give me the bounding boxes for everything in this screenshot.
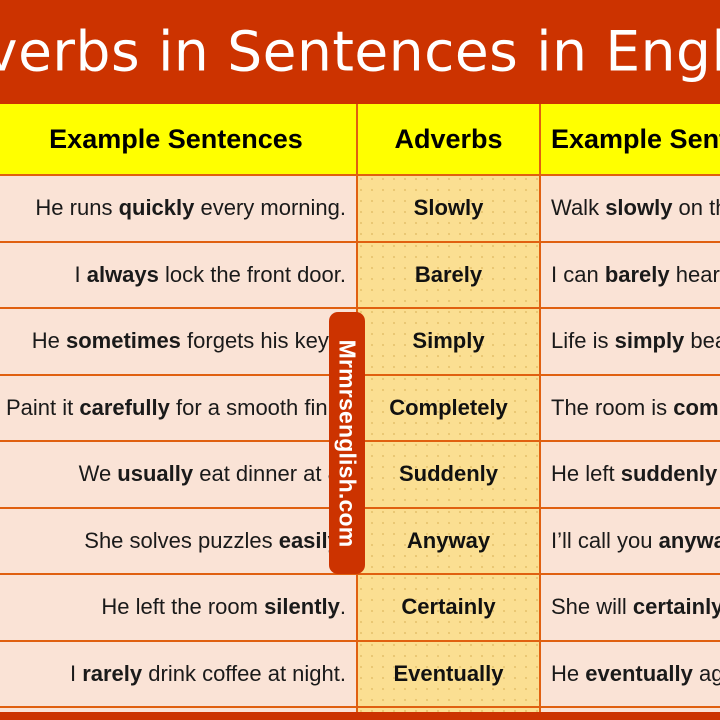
- cell-adverb: Anyway: [357, 508, 540, 575]
- cell-example-sentence-right: I can barely hear you.: [540, 242, 720, 309]
- cell-adverb: Eventually: [357, 641, 540, 708]
- table-row: I rarely drink coffee at night.Eventuall…: [0, 641, 720, 708]
- cell-example-sentence-right: The room is completely empty.: [540, 375, 720, 442]
- cell-example-sentence-right: He eventually agreed.: [540, 641, 720, 708]
- column-header-adverbs: Adverbs: [357, 104, 540, 175]
- cell-example-sentence-left: He sometimes forgets his keys.: [0, 308, 357, 375]
- cell-example-sentence-left: He runs quickly every morning.: [0, 175, 357, 242]
- cell-example-sentence-right: Life is simply beautiful.: [540, 308, 720, 375]
- cell-adverb: Certainly: [357, 574, 540, 641]
- cell-example-sentence-right: She will certainly win.: [540, 574, 720, 641]
- watermark-label: Mrmrsenglish.com: [334, 339, 361, 547]
- cell-adverb: Completely: [357, 375, 540, 442]
- cell-example-sentence-left: She solves puzzles easily.: [0, 508, 357, 575]
- cell-adverb: Simply: [357, 308, 540, 375]
- table-row: He runs quickly every morning.SlowlyWalk…: [0, 175, 720, 242]
- cell-example-sentence-left: We usually eat dinner at 8.: [0, 441, 357, 508]
- cell-example-sentence-right: Walk slowly on the icy road.: [540, 175, 720, 242]
- cell-adverb: Barely: [357, 242, 540, 309]
- cell-example-sentence-right: He left suddenly last night.: [540, 441, 720, 508]
- cell-example-sentence-left: He left the room silently.: [0, 574, 357, 641]
- table-row: I always lock the front door.BarelyI can…: [0, 242, 720, 309]
- table-header-row: Example Sentences Adverbs Example Senten…: [0, 104, 720, 175]
- cell-example-sentence-right: I’ll call you anyway.: [540, 508, 720, 575]
- column-header-example-sentences-right: Example Sentences: [540, 104, 720, 175]
- cell-example-sentence-left: I always lock the front door.: [0, 242, 357, 309]
- infographic-page: Adverbs in Sentences in English Example …: [0, 0, 720, 720]
- column-header-example-sentences-left: Example Sentences: [0, 104, 357, 175]
- bottom-accent-bar: [0, 712, 720, 720]
- table-row: He left the room silently.CertainlyShe w…: [0, 574, 720, 641]
- cell-adverb: Slowly: [357, 175, 540, 242]
- cell-adverb: Suddenly: [357, 441, 540, 508]
- title-banner: Adverbs in Sentences in English: [0, 0, 720, 104]
- cell-example-sentence-left: I rarely drink coffee at night.: [0, 641, 357, 708]
- watermark-badge: Mrmrsenglish.com: [329, 312, 365, 574]
- cell-example-sentence-left: Paint it carefully for a smooth finish.: [0, 375, 357, 442]
- page-title: Adverbs in Sentences in English: [0, 25, 720, 80]
